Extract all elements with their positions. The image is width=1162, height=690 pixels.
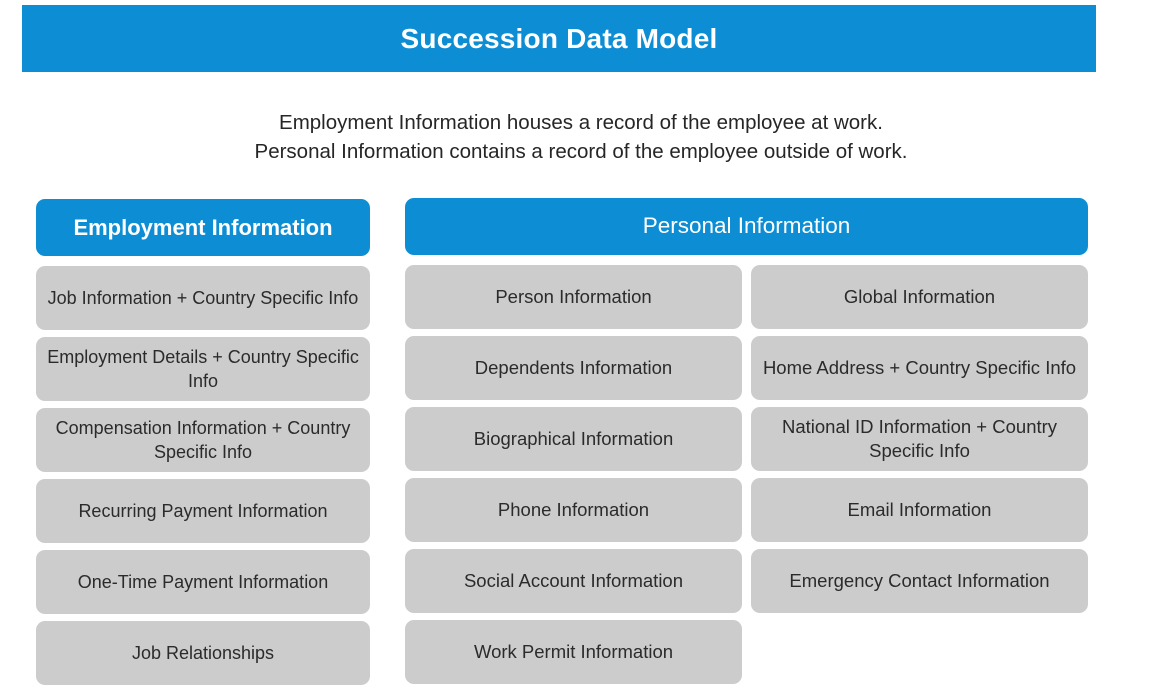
employment-information-header: Employment Information	[36, 199, 370, 256]
list-item[interactable]: Compensation Information + Country Speci…	[36, 408, 370, 472]
list-item[interactable]: Person Information	[405, 265, 742, 329]
list-item[interactable]: Email Information	[751, 478, 1088, 542]
list-item[interactable]: Phone Information	[405, 478, 742, 542]
personal-information-group: Personal Information Person Information …	[405, 198, 1088, 684]
list-item[interactable]: One-Time Payment Information	[36, 550, 370, 614]
slide-canvas: Succession Data Model Employment Informa…	[0, 0, 1162, 690]
personal-cells-wrap: Person Information Dependents Informatio…	[405, 265, 1088, 684]
employment-information-group: Employment Information Job Information +…	[36, 199, 370, 685]
employment-cells-wrap: Job Information + Country Specific Info …	[36, 266, 370, 685]
list-item[interactable]: Emergency Contact Information	[751, 549, 1088, 613]
page-title: Succession Data Model	[401, 25, 718, 53]
subtitle-block: Employment Information houses a record o…	[0, 108, 1162, 166]
list-item[interactable]: Global Information	[751, 265, 1088, 329]
personal-information-header: Personal Information	[405, 198, 1088, 255]
list-item[interactable]: Employment Details + Country Specific In…	[36, 337, 370, 401]
list-item[interactable]: Work Permit Information	[405, 620, 742, 684]
list-item[interactable]: Job Information + Country Specific Info	[36, 266, 370, 330]
list-item[interactable]: Job Relationships	[36, 621, 370, 685]
list-item[interactable]: Biographical Information	[405, 407, 742, 471]
list-item[interactable]: Social Account Information	[405, 549, 742, 613]
subtitle-line-2: Personal Information contains a record o…	[0, 137, 1162, 166]
list-item[interactable]: National ID Information + Country Specif…	[751, 407, 1088, 471]
subtitle-line-1: Employment Information houses a record o…	[0, 108, 1162, 137]
list-item[interactable]: Dependents Information	[405, 336, 742, 400]
list-item[interactable]: Recurring Payment Information	[36, 479, 370, 543]
title-banner: Succession Data Model	[22, 5, 1096, 72]
personal-column-2: Global Information Home Address + Countr…	[751, 265, 1088, 684]
list-item[interactable]: Home Address + Country Specific Info	[751, 336, 1088, 400]
personal-column-1: Person Information Dependents Informatio…	[405, 265, 742, 684]
employment-column-1: Job Information + Country Specific Info …	[36, 266, 370, 685]
